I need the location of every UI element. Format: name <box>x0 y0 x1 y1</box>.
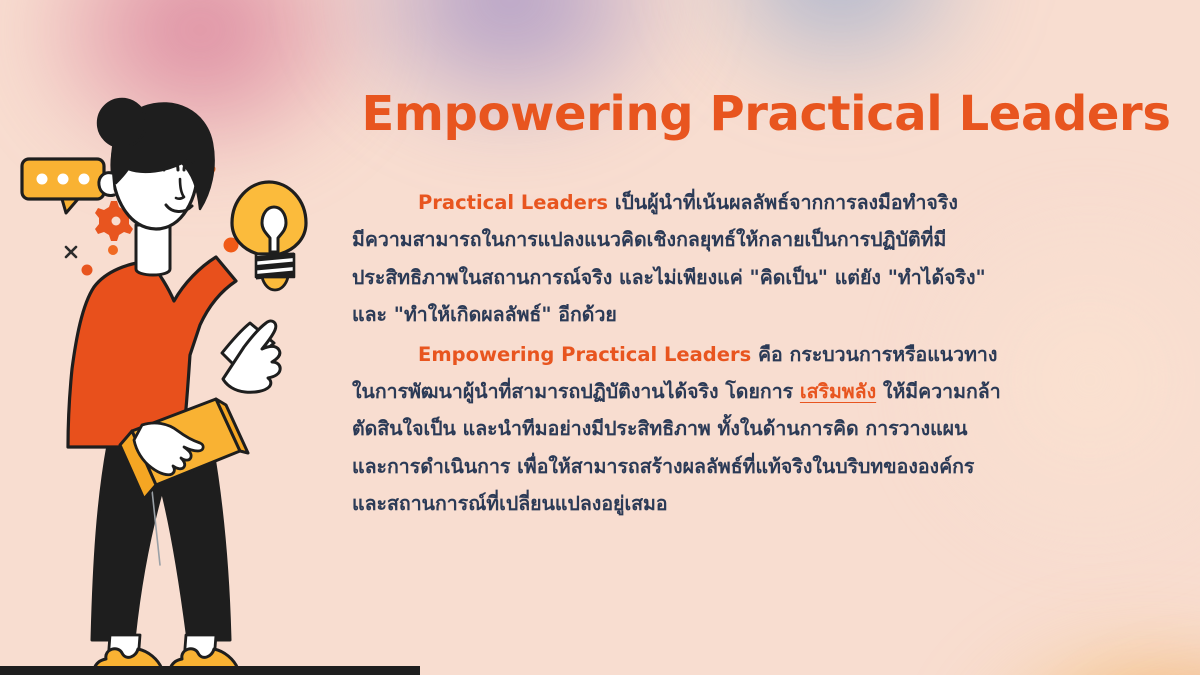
paragraph-2-line-2a: ในการพัฒนาผู้นำที่สามารถปฏิบัติงานได้จริ… <box>352 380 800 403</box>
x-mark-icon <box>66 247 76 257</box>
lead-term-empowering-practical-leaders: Empowering Practical Leaders <box>418 343 751 366</box>
paragraph-2-line-2b: ให้มีความกล้า <box>876 380 1001 403</box>
body-copy: Practical Leaders เป็นผู้นำที่เน้นผลลัพธ… <box>352 184 1180 523</box>
paragraph-1-line-1: เป็นผู้นำที่เน้นผลลัพธ์จากการลงมือทำจริง <box>608 191 958 214</box>
illustration-woman-pointing-at-lightbulb <box>0 95 370 675</box>
speech-bubble-icon <box>22 159 104 213</box>
lead-term-practical-leaders: Practical Leaders <box>418 191 608 214</box>
ground-line <box>0 666 420 675</box>
paragraph-1: Practical Leaders เป็นผู้นำที่เน้นผลลัพธ… <box>352 184 1180 334</box>
paragraph-2-line-1: คือ กระบวนการหรือแนวทาง <box>751 343 997 366</box>
highlight-term-serm-phalang[interactable]: เสริมพลัง <box>800 380 876 403</box>
paragraph-1-line-3: ประสิทธิภาพในสถานการณ์จริง และไม่เพียงแค… <box>352 266 986 289</box>
content-column: Empowering Practical Leaders Practical L… <box>352 88 1180 525</box>
paragraph-2: Empowering Practical Leaders คือ กระบวนก… <box>352 336 1180 523</box>
slide-canvas: Empowering Practical Leaders Practical L… <box>0 0 1200 675</box>
gradient-blob-amber <box>880 575 1200 675</box>
paragraph-2-line-5: และสถานการณ์ที่เปลี่ยนแปลงอยู่เสมอ <box>352 492 668 515</box>
page-title: Empowering Practical Leaders <box>352 88 1180 142</box>
figure-neck <box>136 225 170 275</box>
lightbulb-icon <box>232 182 306 290</box>
gradient-blob-orange <box>1010 640 1200 675</box>
paragraph-1-line-4: และ "ทำให้เกิดผลลัพธ์" อีกด้วย <box>352 303 617 326</box>
paragraph-1-line-2: มีความสามารถในการแปลงแนวคิดเชิงกลยุทธ์ให… <box>352 228 946 251</box>
paragraph-2-line-4: และการดำเนินการ เพื่อให้สามารถสร้างผลลัพ… <box>352 455 974 478</box>
paragraph-2-line-3: ตัดสินใจเป็น และนำทีมอย่างมีประสิทธิภาพ … <box>352 417 967 440</box>
